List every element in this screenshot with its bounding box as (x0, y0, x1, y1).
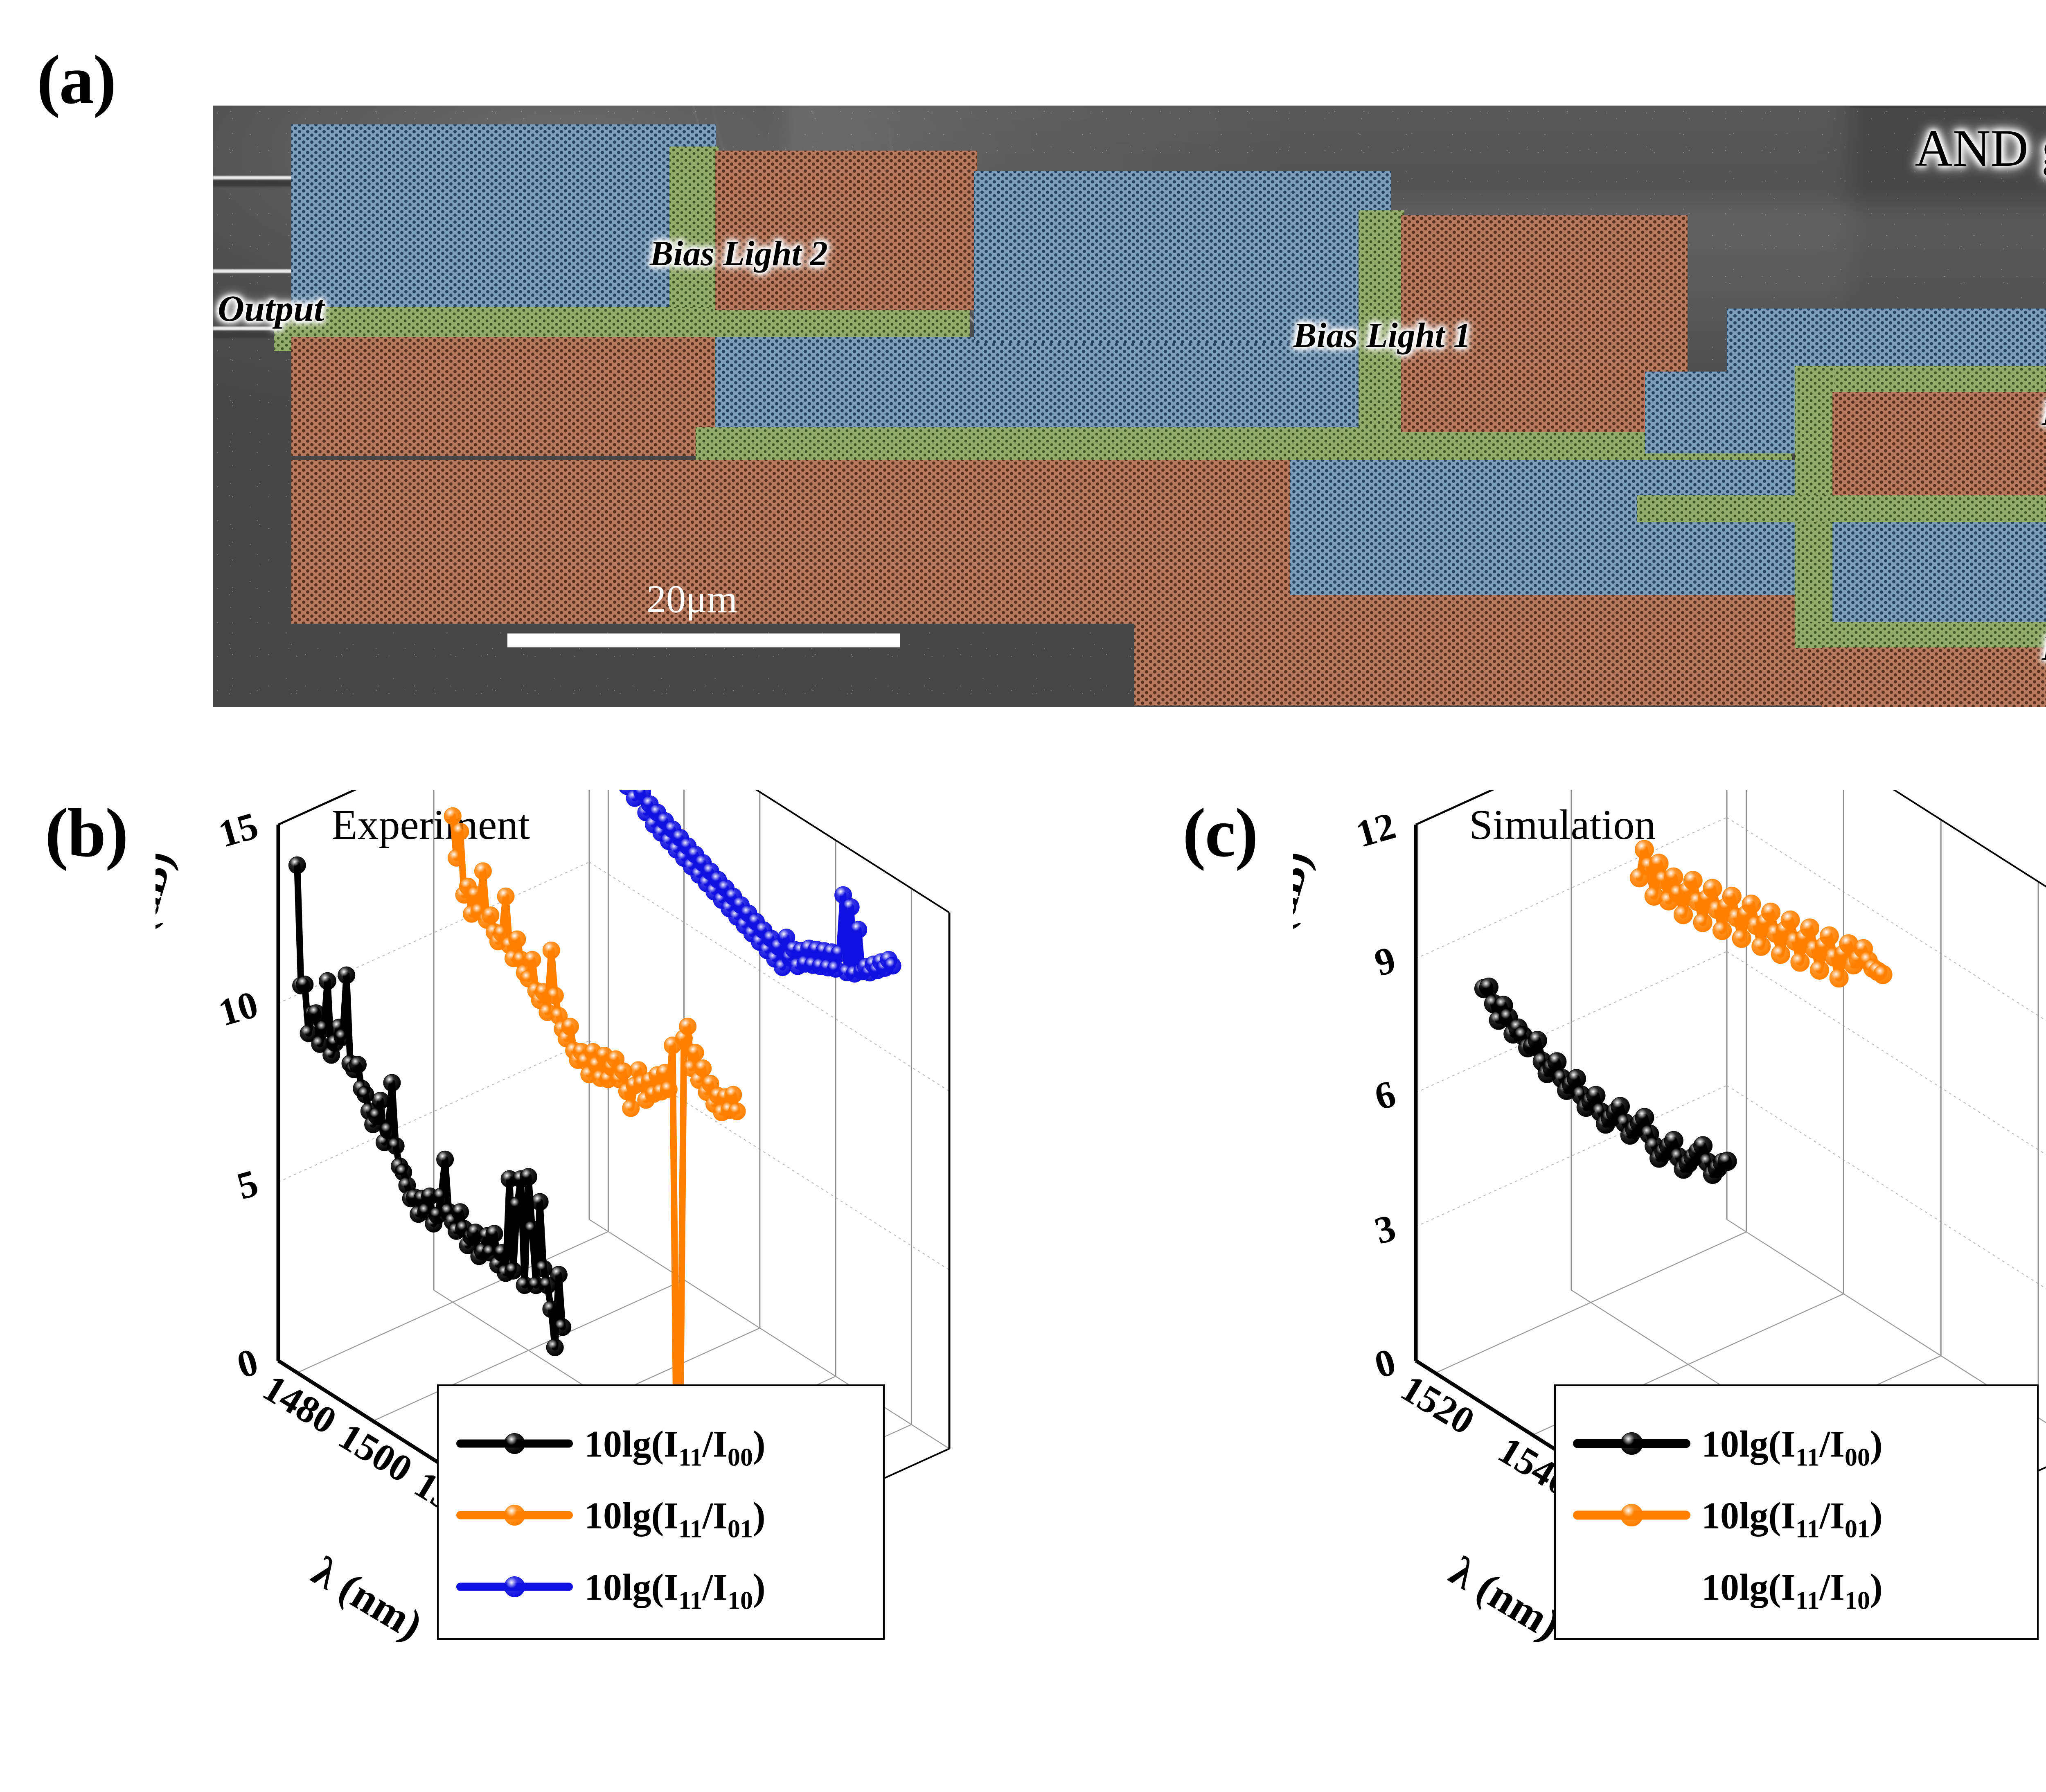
z-tick-label: 10 (214, 983, 263, 1035)
plot-title: Experiment (331, 801, 530, 848)
scalebar-bar (507, 633, 900, 647)
pc-region-brown-1 (715, 151, 977, 310)
plot-legend[interactable]: 10lg(I11/I00)10lg(I11/I01)10lg(I11/I10) (1555, 1385, 2038, 1639)
label-input-a: Input A (2042, 395, 2046, 431)
pc-region-green-7 (1637, 495, 2046, 522)
panel-c-label: (c) (1183, 798, 1257, 868)
z-tick-label: 15 (214, 804, 263, 856)
scalebar-label: 20μm (647, 576, 737, 622)
z-tick-label: 5 (232, 1162, 263, 1208)
label-bias-light-1: Bias Light 1 (1293, 318, 1471, 353)
panel-a-label: (a) (37, 45, 115, 115)
x-axis-label: λ (nm) (1442, 1547, 1568, 1649)
pc-region-blue-4 (1290, 460, 1822, 595)
x-axis-label: λ (nm) (304, 1547, 431, 1649)
pc-region-blue-7 (1832, 522, 2046, 624)
label-output: Output (218, 291, 324, 327)
z-axis-label: Extinction Ratio (dB) (155, 845, 183, 1233)
z-tick-label: 6 (1370, 1072, 1400, 1118)
experiment-3d-plot: 05101514801500152015401560λ (nm)Extincti… (155, 790, 1097, 1772)
z-tick-label: 0 (232, 1340, 263, 1386)
z-tick-label: 9 (1370, 938, 1400, 985)
z-tick-label: 3 (1370, 1206, 1400, 1253)
z-tick-label: 0 (1370, 1340, 1400, 1386)
pc-region-brown-6 (1832, 392, 2046, 499)
label-input-b: Input B (2042, 630, 2046, 665)
sem-micrograph: AND gate Output Bias Light 2 Bias Light … (213, 106, 2046, 707)
pc-region-green-8 (1795, 622, 2046, 648)
pc-region-brown-7 (1822, 647, 2046, 707)
simulation-3d-plot: 0369121520154015601580λ (nm)Extinction R… (1293, 790, 2046, 1772)
pc-region-brown-2 (291, 337, 717, 456)
plot-legend[interactable]: 10lg(I11/I00)10lg(I11/I01)10lg(I11/I10) (438, 1385, 884, 1639)
panel-b-label: (b) (45, 798, 128, 868)
and-gate-title: AND gate (1915, 122, 2046, 174)
z-axis-label: Extinction Ratio (dB) (1293, 845, 1320, 1233)
plot-title: Simulation (1469, 801, 1656, 848)
z-tick-label: 12 (1352, 804, 1400, 856)
label-bias-light-2: Bias Light 2 (650, 236, 828, 271)
